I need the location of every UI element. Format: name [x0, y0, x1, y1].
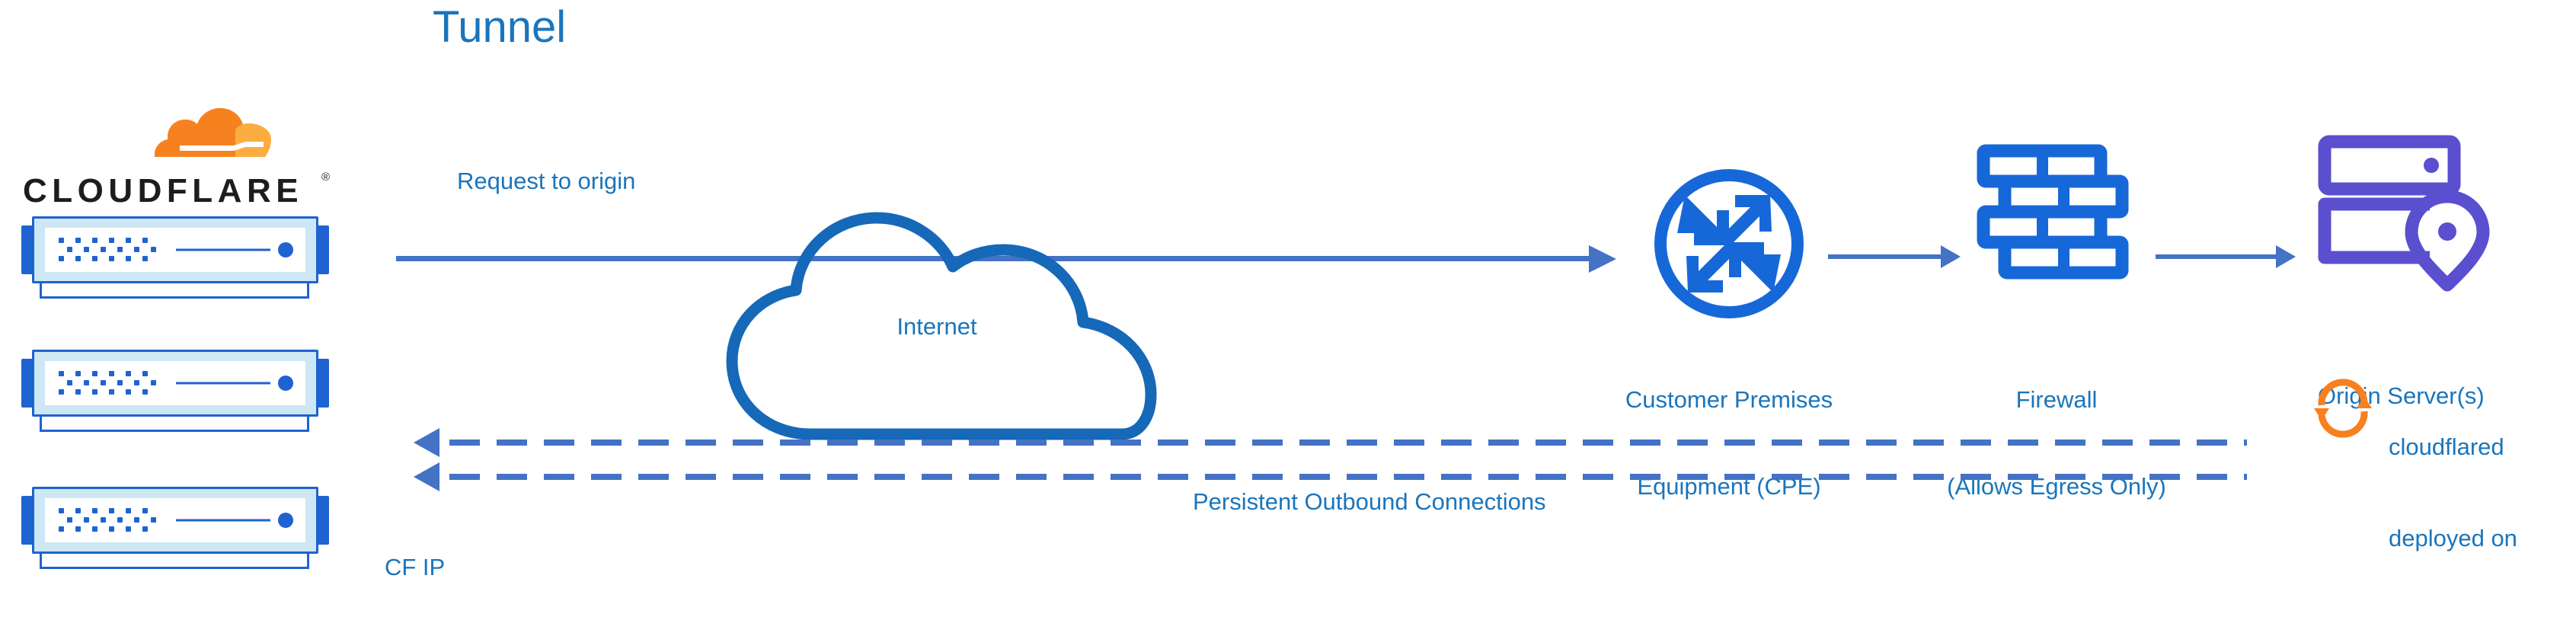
rack-power-led [278, 513, 293, 528]
request-to-origin-label: Request to origin [457, 167, 635, 196]
diagram-canvas: Tunnel CLOUDFLARE ® [0, 0, 2576, 617]
rack-shelf [40, 552, 309, 569]
cpe-to-firewall-line [1828, 254, 1942, 259]
rack-shelf [40, 415, 309, 432]
firewall-label-line-1: Firewall [1881, 385, 2232, 414]
rack-led-grid [59, 508, 155, 532]
persistent-outbound-connections-label: Persistent Outbound Connections [1193, 488, 1954, 516]
server-location-pin-icon [2316, 134, 2498, 294]
cpe-to-firewall-head [1941, 245, 1961, 268]
cloudflared-label: cloudflared deployed on servers [2389, 371, 2576, 617]
rack-led-grid [59, 238, 155, 262]
page-title: Tunnel [433, 2, 566, 53]
request-arrow-head [1589, 245, 1616, 273]
rack-status-line [176, 249, 270, 251]
registered-mark: ® [321, 171, 330, 184]
cloudflare-edge-server-3 [8, 484, 343, 569]
rack-status-line [176, 382, 270, 385]
cloudflared-label-line-1: cloudflared [2389, 432, 2576, 462]
rack-face [45, 228, 305, 272]
router-four-arrows-icon [1645, 160, 1813, 328]
cloudflare-edge-server-2 [8, 347, 343, 432]
internet-label: Internet [807, 312, 1066, 341]
return-arrow-head-top [414, 428, 439, 457]
firewall-to-origin-line [2156, 254, 2277, 259]
return-dashed-line-bottom [449, 474, 2247, 480]
cloudflare-logo: CLOUDFLARE ® [23, 98, 343, 212]
rack-shelf [40, 282, 309, 299]
rack-status-line [176, 519, 270, 522]
cloudflare-cloud-logo-icon [129, 98, 282, 174]
rack-chassis [32, 216, 318, 283]
cf-ip-label-line-1: CF IP [385, 553, 628, 582]
cloudflared-label-line-2: deployed on [2389, 523, 2576, 554]
sync-arrows-icon [2308, 373, 2378, 443]
rack-face [45, 498, 305, 542]
rack-power-led [278, 242, 293, 257]
cf-ip-anycast-label: CF IP (Anycast) [385, 495, 628, 617]
return-arrow-head-bottom [414, 462, 439, 491]
brick-wall-icon [1973, 142, 2133, 286]
cloudflare-edge-server-1 [8, 213, 343, 299]
cpe-label-line-1: Customer Premises [1569, 385, 1889, 414]
rack-chassis [32, 487, 318, 554]
cloudflare-wordmark: CLOUDFLARE [23, 172, 303, 210]
rack-led-grid [59, 371, 155, 395]
rack-face [45, 361, 305, 405]
return-dashed-line-top [449, 440, 2247, 446]
rack-chassis [32, 350, 318, 417]
firewall-to-origin-head [2276, 245, 2296, 268]
rack-power-led [278, 376, 293, 391]
